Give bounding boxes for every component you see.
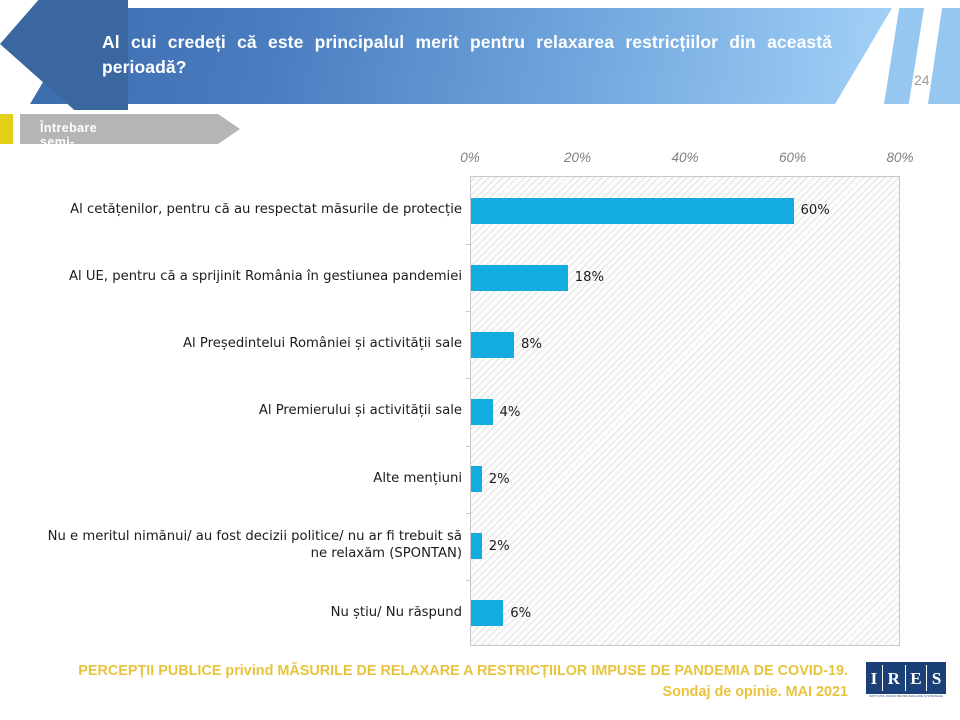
bar xyxy=(471,600,503,626)
bar xyxy=(471,466,482,492)
x-axis-tick-label: 60% xyxy=(779,150,806,165)
header-banner: Al cui credeți că este principalul merit… xyxy=(0,0,960,112)
bar-row: 2% xyxy=(471,466,510,492)
logo-letter: I xyxy=(871,670,878,687)
bar xyxy=(471,332,514,358)
x-axis-tick-label: 40% xyxy=(671,150,698,165)
x-axis-tick-labels: 0%20%40%60%80% xyxy=(470,150,900,172)
logo-letter: E xyxy=(910,670,921,687)
bar-value-label: 4% xyxy=(500,405,521,420)
category-label: Alte mențiuni xyxy=(373,470,462,487)
page-title: Al cui credeți că este principalul merit… xyxy=(102,30,832,80)
category-label-row: Nu știu/ Nu răspund xyxy=(30,579,462,646)
category-label-row: Al UE, pentru că a sprijinit România în … xyxy=(30,243,462,310)
bar-row: 60% xyxy=(471,198,830,224)
banner-slash-decoration-1 xyxy=(884,8,924,104)
category-label: Nu știu/ Nu răspund xyxy=(331,604,462,621)
x-axis-tick-label: 80% xyxy=(886,150,913,165)
bar-value-label: 2% xyxy=(489,472,510,487)
logo-letter: S xyxy=(932,670,941,687)
category-label: Al cetățenilor, pentru că au respectat m… xyxy=(70,201,462,218)
x-axis-tick-label: 20% xyxy=(564,150,591,165)
bar xyxy=(471,265,568,291)
bar xyxy=(471,399,493,425)
bar-row: 8% xyxy=(471,332,542,358)
footer-line-2: Sondaj de opinie. MAI 2021 xyxy=(28,682,848,703)
footer-line-1: PERCEPȚII PUBLICE privind MĂSURILE DE RE… xyxy=(28,661,848,682)
bar-value-label: 60% xyxy=(801,203,830,218)
bar-value-label: 6% xyxy=(510,606,531,621)
category-label-row: Al cetățenilor, pentru că au respectat m… xyxy=(30,176,462,243)
category-axis-labels: Al cetățenilor, pentru că au respectat m… xyxy=(30,176,462,646)
plot-area: 60%18%8%4%2%2%6% xyxy=(470,176,900,646)
bar-value-label: 8% xyxy=(521,337,542,352)
category-axis-tick xyxy=(466,378,471,379)
bar-row: 2% xyxy=(471,533,510,559)
x-axis-tick-label: 0% xyxy=(460,150,480,165)
bar-value-label: 18% xyxy=(575,270,604,285)
logo-separator xyxy=(882,665,883,691)
bar-value-label: 2% xyxy=(489,539,510,554)
bar xyxy=(471,533,482,559)
slide-number: 24 xyxy=(914,72,930,88)
bar xyxy=(471,198,794,224)
banner-slash-decoration-2 xyxy=(928,8,960,104)
category-label-row: Al Președintelui României și activității… xyxy=(30,310,462,377)
bar-chart: 0%20%40%60%80% 60%18%8%4%2%2%6% Al cetăț… xyxy=(0,150,960,650)
category-axis-tick xyxy=(466,311,471,312)
category-label: Al Președintelui României și activității… xyxy=(183,335,462,352)
logo-separator xyxy=(905,665,906,691)
bar-row: 18% xyxy=(471,265,604,291)
category-label: Nu e meritul nimănui/ au fost decizii po… xyxy=(30,528,462,562)
slide-root: Al cui credeți că este principalul merit… xyxy=(0,0,960,720)
bar-row: 6% xyxy=(471,600,531,626)
category-label-row: Alte mențiuni xyxy=(30,445,462,512)
logo-separator xyxy=(926,665,927,691)
category-label: Al Premierului și activității sale xyxy=(259,402,462,419)
footer-caption: PERCEPȚII PUBLICE privind MĂSURILE DE RE… xyxy=(28,661,848,703)
category-label: Al UE, pentru că a sprijinit România în … xyxy=(69,268,462,285)
logo-letter-box: IRES xyxy=(866,662,946,694)
category-axis-tick xyxy=(466,446,471,447)
category-axis-tick xyxy=(466,513,471,514)
bar-row: 4% xyxy=(471,399,520,425)
ires-logo: IRES INSTITUTUL ROMÂN PENTRU EVALUARE ȘI… xyxy=(866,662,946,706)
footer: PERCEPȚII PUBLICE privind MĂSURILE DE RE… xyxy=(0,655,960,720)
category-axis-tick xyxy=(466,580,471,581)
category-label-row: Al Premierului și activității sale xyxy=(30,377,462,444)
logo-letter: R xyxy=(888,670,900,687)
category-label-row: Nu e meritul nimănui/ au fost decizii po… xyxy=(30,512,462,579)
badge-accent-bar xyxy=(0,114,13,144)
logo-subtitle: INSTITUTUL ROMÂN PENTRU EVALUARE ȘI STRA… xyxy=(866,695,946,698)
category-axis-tick xyxy=(466,244,471,245)
